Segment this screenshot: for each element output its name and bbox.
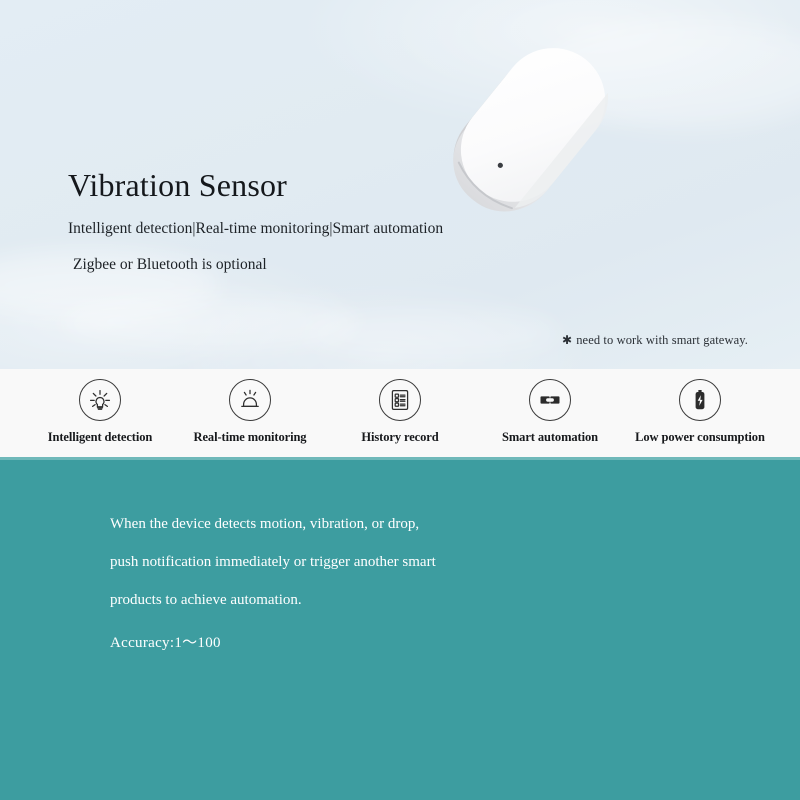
feature-low-power-consumption: Low power consumption [625,369,775,445]
description-line: push notification immediately or trigger… [110,555,510,570]
hero-tagline-secondary: Zigbee or Bluetooth is optional [68,257,538,273]
section-divider [0,457,800,460]
feature-label: Real-time monitoring [194,430,307,445]
feature-real-time-monitoring: Real-time monitoring [175,369,325,445]
lightbulb-icon [79,379,121,421]
feature-label: History record [361,430,438,445]
cloud-shape [540,20,800,130]
gateway-footnote-text: need to work with smart gateway. [576,333,748,347]
feature-label: Smart automation [502,430,598,445]
alarm-beacon-icon [229,379,271,421]
feature-icon-band: Intelligent detection Real-time monitori… [0,369,800,457]
hero-banner: Vibration Sensor Intelligent detection|R… [0,0,800,369]
hero-text-block: Vibration Sensor Intelligent detection|R… [68,168,538,272]
battery-bolt-icon [679,379,721,421]
description-text-block: When the device detects motion, vibratio… [110,517,510,652]
accuracy-spec: Accuracy:1～100 [110,631,510,652]
feature-history-record: History record [325,369,475,445]
feature-label: Intelligent detection [48,430,152,445]
checklist-document-icon [379,379,421,421]
chain-link-icon [529,379,571,421]
feature-label: Low power consumption [635,430,765,445]
feature-smart-automation: Smart automation [475,369,625,445]
cloud-shape [60,296,360,348]
gateway-footnote: ✱need to work with smart gateway. [562,333,748,348]
product-marketing-image: Vibration Sensor Intelligent detection|R… [0,0,800,800]
page-title: Vibration Sensor [68,168,538,203]
hero-tagline-primary: Intelligent detection|Real-time monitori… [68,221,538,237]
description-line: products to achieve automation. [110,593,510,608]
feature-intelligent-detection: Intelligent detection [25,369,175,445]
asterisk-icon: ✱ [562,333,572,347]
description-section: When the device detects motion, vibratio… [0,457,800,800]
cloud-shape [300,310,560,356]
description-line: When the device detects motion, vibratio… [110,517,510,532]
